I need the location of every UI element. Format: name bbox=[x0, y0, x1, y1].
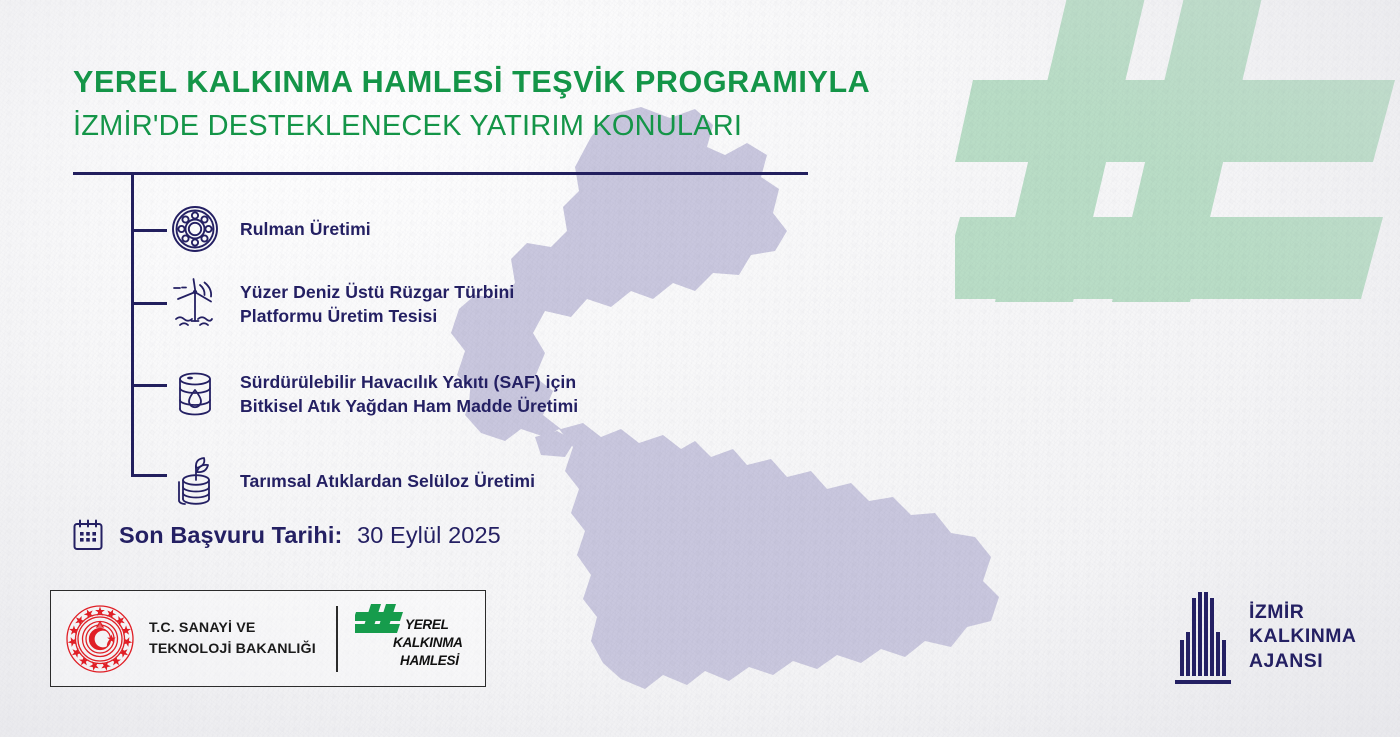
bracket-spine bbox=[131, 172, 134, 477]
title-divider bbox=[73, 172, 808, 175]
page-title: YEREL KALKINMA HAMLESİ TEŞVİK PROGRAMIYL… bbox=[73, 66, 870, 141]
izka-logo: İZMİR KALKINMA AJANSI bbox=[1172, 588, 1356, 685]
offshore-wind-turbine-icon bbox=[166, 275, 224, 333]
list-item: Sürdürülebilir Havacılık Yakıtı (SAF) iç… bbox=[166, 365, 578, 423]
campaign-line-1: YEREL bbox=[405, 617, 449, 632]
title-line-1: YEREL KALKINMA HAMLESİ TEŞVİK PROGRAMIYL… bbox=[73, 66, 870, 98]
logo-divider bbox=[336, 606, 338, 672]
bracket-tick-3 bbox=[131, 384, 167, 387]
poster-canvas: YEREL KALKINMA HAMLESİ TEŞVİK PROGRAMIYL… bbox=[0, 0, 1400, 737]
oil-barrel-icon bbox=[166, 365, 224, 423]
list-item-label: Tarımsal Atıklardan Selüloz Üretimi bbox=[240, 469, 535, 493]
deadline-row: Son Başvuru Tarihi: 30 Eylül 2025 bbox=[71, 518, 501, 552]
campaign-line-3: HAMLESİ bbox=[400, 653, 460, 668]
izka-line-1: İZMİR bbox=[1249, 600, 1356, 624]
calendar-icon bbox=[71, 518, 105, 552]
hashtag-watermark bbox=[955, 0, 1395, 442]
list-item-label: Rulman Üretimi bbox=[240, 217, 371, 241]
campaign-line-2: KALKINMA bbox=[393, 635, 463, 650]
turkish-ministry-emblem-icon bbox=[65, 604, 135, 674]
bracket-tick-2 bbox=[131, 302, 167, 305]
deadline-value: 30 Eylül 2025 bbox=[357, 522, 501, 548]
ministry-name-line-2: TEKNOLOJİ BAKANLIĞI bbox=[149, 639, 316, 659]
list-item-label: Sürdürülebilir Havacılık Yakıtı (SAF) iç… bbox=[240, 370, 578, 419]
izka-line-3: AJANSI bbox=[1249, 649, 1356, 673]
izka-tower-mark-icon bbox=[1172, 588, 1234, 685]
deadline-text: Son Başvuru Tarihi: 30 Eylül 2025 bbox=[119, 522, 501, 549]
green-hashtag-icon bbox=[355, 604, 403, 633]
list-item: Tarımsal Atıklardan Selüloz Üretimi bbox=[166, 452, 535, 510]
yerel-kalkinma-hamlesi-logo: YEREL KALKINMA HAMLESİ bbox=[355, 602, 463, 676]
cellulose-stack-icon bbox=[166, 452, 224, 510]
ball-bearing-icon bbox=[166, 200, 224, 258]
deadline-label: Son Başvuru Tarihi: bbox=[119, 522, 342, 548]
ministry-name-line-1: T.C. SANAYİ VE bbox=[149, 618, 316, 638]
ministry-name: T.C. SANAYİ VE TEKNOLOJİ BAKANLIĞI bbox=[149, 618, 316, 658]
bracket-tick-1 bbox=[131, 229, 167, 232]
bracket-tick-4 bbox=[131, 474, 167, 477]
list-item: Yüzer Deniz Üstü Rüzgar Türbini Platform… bbox=[166, 275, 514, 333]
izka-line-2: KALKINMA bbox=[1249, 624, 1356, 648]
list-item-label: Yüzer Deniz Üstü Rüzgar Türbini Platform… bbox=[240, 280, 514, 329]
izka-wordmark: İZMİR KALKINMA AJANSI bbox=[1249, 600, 1356, 685]
title-line-2: İZMİR'DE DESTEKLENECEK YATIRIM KONULARI bbox=[73, 111, 870, 141]
ministry-logo-box: T.C. SANAYİ VE TEKNOLOJİ BAKANLIĞI YEREL… bbox=[50, 590, 486, 687]
list-item: Rulman Üretimi bbox=[166, 200, 371, 258]
